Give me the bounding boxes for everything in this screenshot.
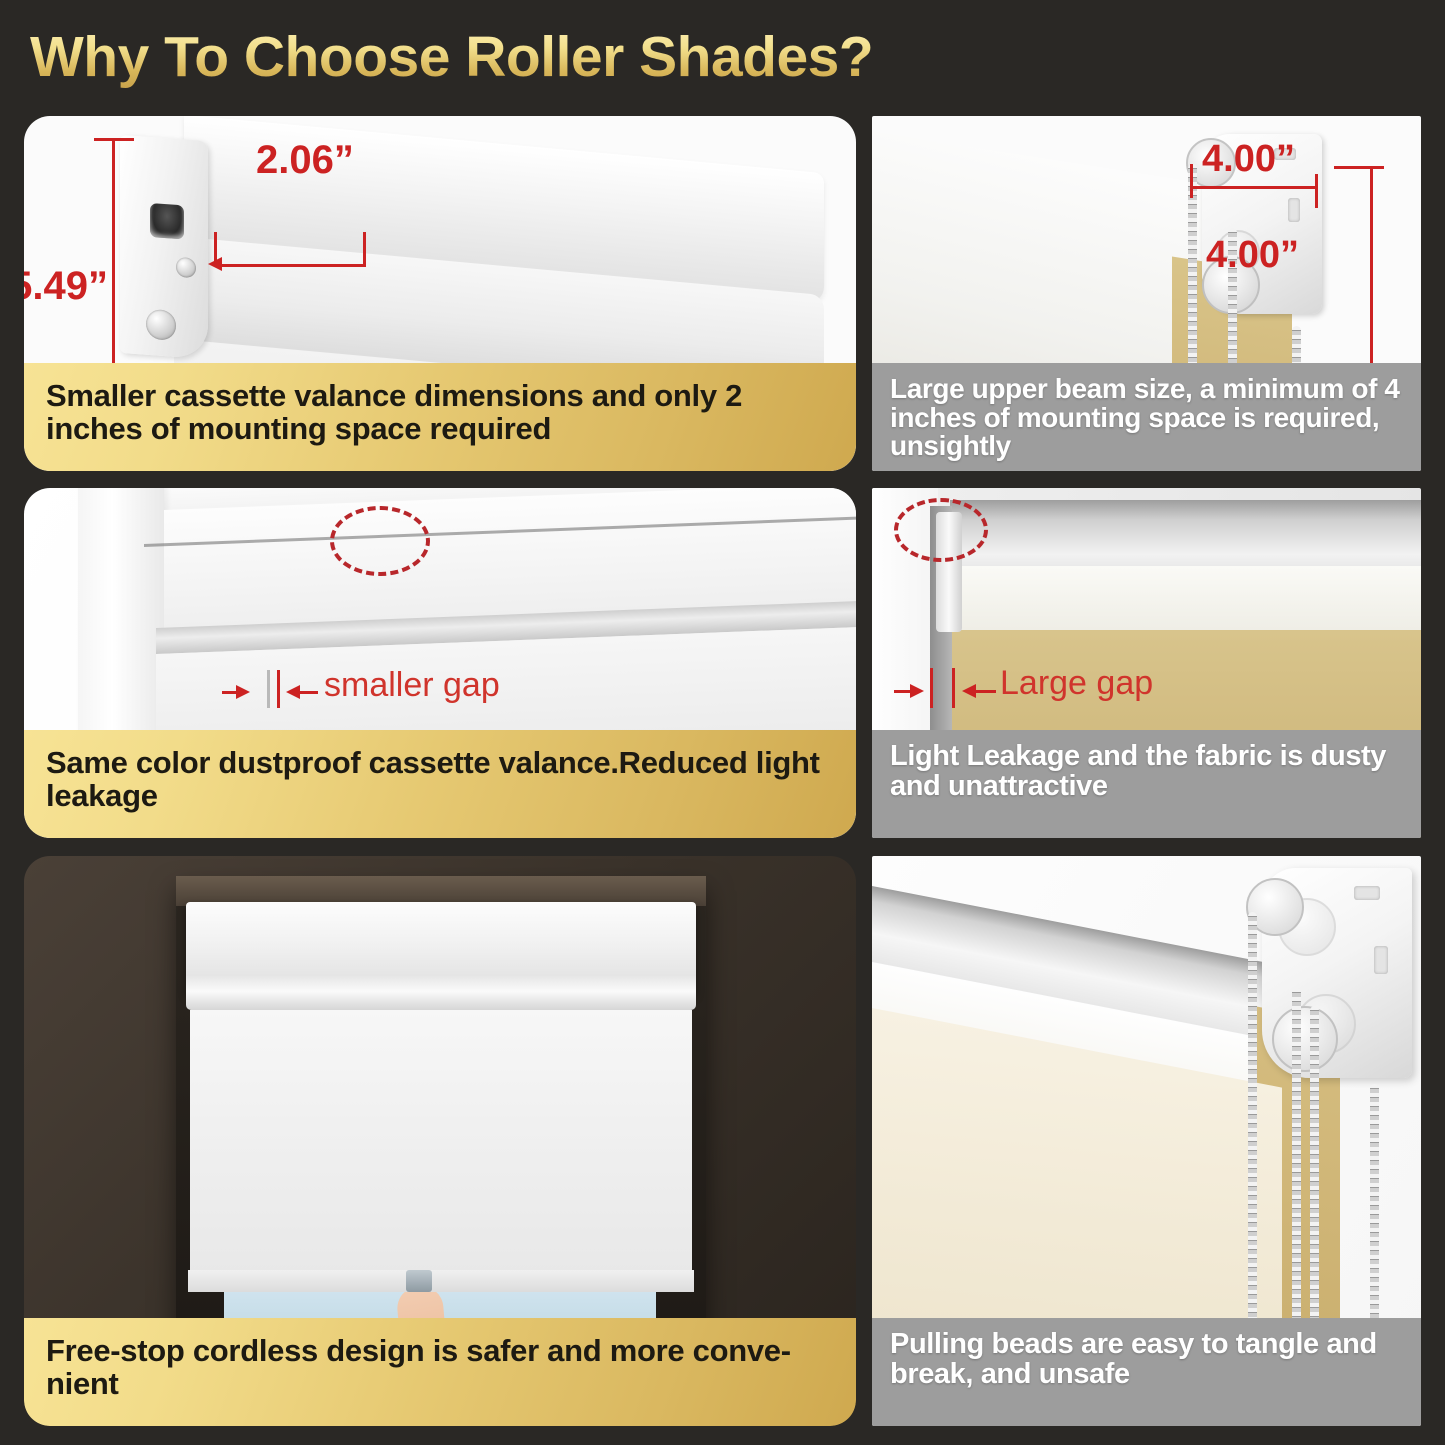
panel-cordless-design: Free-stop cordless design is safer and m… bbox=[24, 856, 856, 1426]
panel-5-caption-text: Free-stop cordless design is safer and m… bbox=[46, 1334, 834, 1400]
width-dimension-line bbox=[1190, 186, 1318, 189]
height-dimension-label: 5.49” bbox=[24, 264, 108, 309]
bottom-rail bbox=[188, 1270, 694, 1292]
panel-light-leakage: Large gap Light Leakage and the fabric i… bbox=[872, 488, 1421, 838]
bracket-notch-a bbox=[1354, 886, 1380, 900]
panel-2-caption: Large upper beam size, a minimum of 4 in… bbox=[872, 363, 1421, 471]
panel-large-beam: 4.00” 4.00” Large upper beam size, a min… bbox=[872, 116, 1421, 471]
page-title: Why To Choose Roller Shades? bbox=[30, 24, 873, 90]
bead-chain-right bbox=[1370, 1084, 1379, 1352]
bead-chain-middle-2 bbox=[1310, 1006, 1319, 1354]
bracket-notch-b bbox=[1288, 198, 1300, 222]
panel-1-caption: Smaller cassette valance dimensions and … bbox=[24, 363, 856, 471]
width-tick-left bbox=[214, 232, 217, 266]
gap-arrow-left-stem bbox=[894, 690, 914, 693]
gap-arrow-right-stem bbox=[300, 691, 318, 694]
gap-edge-right bbox=[277, 670, 280, 708]
large-gap-label: Large gap bbox=[1000, 664, 1153, 703]
screw-lower bbox=[146, 309, 176, 341]
gap-arrow-right bbox=[962, 684, 976, 698]
width-dimension-label: 4.00” bbox=[1202, 138, 1295, 181]
gap-highlight-ellipse bbox=[894, 498, 988, 562]
height-tick-top bbox=[94, 138, 134, 141]
height-dimension-label: 4.00” bbox=[1206, 234, 1299, 277]
panel-grid: 2.06” 5.49” Smaller cassette valance dim… bbox=[0, 108, 1445, 1445]
width-tick-right bbox=[363, 232, 366, 266]
gap-edge-right bbox=[952, 668, 955, 708]
gap-highlight-ellipse bbox=[330, 506, 430, 576]
upper-beam bbox=[950, 566, 1421, 630]
panel-2-caption-text: Large upper beam size, a minimum of 4 in… bbox=[890, 375, 1403, 461]
cord-slot bbox=[150, 203, 184, 239]
panel-5-caption: Free-stop cordless design is safer and m… bbox=[24, 1318, 856, 1426]
width-tick-left bbox=[1190, 164, 1193, 198]
pull-tab bbox=[406, 1270, 432, 1292]
gap-arrow-right bbox=[286, 685, 300, 699]
bead-chain-left bbox=[1248, 912, 1257, 1352]
height-tick-top bbox=[1334, 166, 1384, 169]
bead-chain-middle bbox=[1292, 988, 1301, 1354]
end-cap bbox=[120, 135, 208, 359]
panel-3-caption: Same color dustproof cassette valance.Re… bbox=[24, 730, 856, 838]
bracket-notch-b bbox=[1374, 946, 1388, 974]
screw-upper bbox=[176, 257, 196, 278]
gap-arrow-right-stem bbox=[976, 690, 996, 693]
width-dimension-line bbox=[214, 264, 366, 267]
valance-band bbox=[186, 976, 696, 1010]
gap-arrow-left-stem bbox=[222, 691, 242, 694]
panel-6-caption: Pulling beads are easy to tangle and bre… bbox=[872, 1318, 1421, 1426]
panel-3-caption-text: Same color dustproof cassette valance.Re… bbox=[46, 746, 834, 812]
gap-edge-left bbox=[267, 670, 270, 708]
panel-4-caption-text: Light Leakage and the fabric is dusty an… bbox=[890, 742, 1403, 801]
roller-end-disc-bottom bbox=[1272, 1006, 1338, 1072]
panel-1-caption-text: Smaller cassette valance dimensions and … bbox=[46, 379, 834, 445]
panel-pulling-beads: Pulling beads are easy to tangle and bre… bbox=[872, 856, 1421, 1426]
panel-dustproof-valance: smaller gap Same color dustproof cassett… bbox=[24, 488, 856, 838]
width-tick-right bbox=[1315, 174, 1318, 208]
width-dimension-label: 2.06” bbox=[256, 138, 354, 183]
shade-fabric bbox=[190, 1010, 692, 1278]
panel-4-caption: Light Leakage and the fabric is dusty an… bbox=[872, 730, 1421, 838]
gap-edge-left bbox=[930, 668, 933, 708]
panel-6-caption-text: Pulling beads are easy to tangle and bre… bbox=[890, 1330, 1403, 1389]
panel-smaller-cassette: 2.06” 5.49” Smaller cassette valance dim… bbox=[24, 116, 856, 471]
smaller-gap-label: smaller gap bbox=[324, 666, 500, 705]
infographic-page: Why To Choose Roller Shades? 2.06” bbox=[0, 0, 1445, 1445]
